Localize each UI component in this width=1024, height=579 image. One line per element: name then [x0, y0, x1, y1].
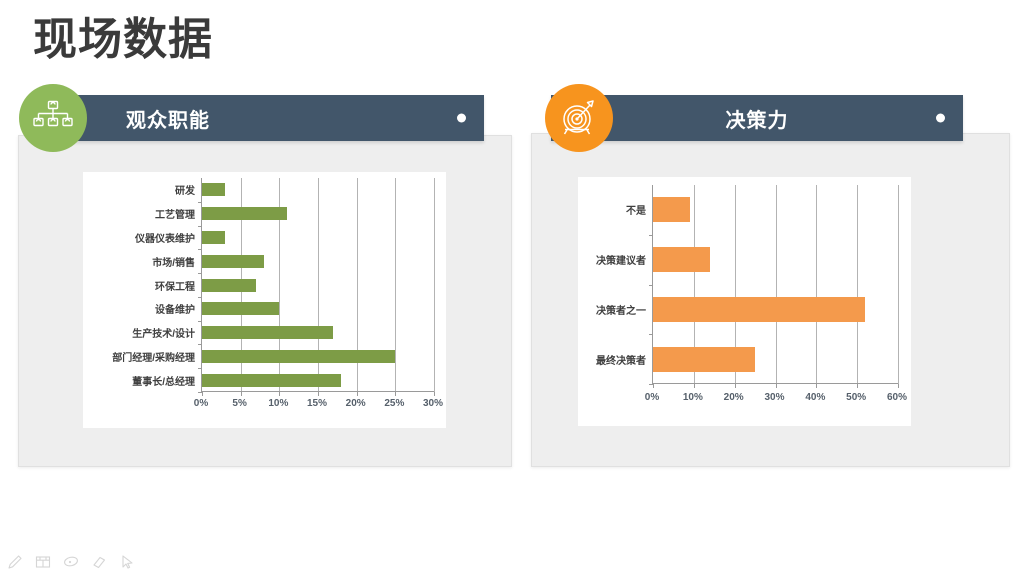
- annotation-toolbar[interactable]: [6, 553, 136, 571]
- bar-row: [202, 368, 434, 392]
- bar: [653, 297, 865, 322]
- y-axis-tick: [649, 285, 653, 286]
- bar-chart-audience-function: 研发工艺管理仪器仪表维护市场/销售环保工程设备维护生产技术/设计部门经理/采购经…: [83, 172, 446, 428]
- category-label: 环保工程: [83, 273, 201, 297]
- plot-area: [652, 177, 911, 426]
- x-axis-ticks: [202, 392, 434, 396]
- category-label: 不是: [578, 185, 652, 235]
- category-label: 研发: [83, 178, 201, 202]
- x-axis-tick-label: 20%: [346, 398, 366, 409]
- status-dot-icon: [457, 114, 466, 123]
- y-axis-category-labels: 不是决策建议者决策者之一最终决策者: [578, 177, 652, 426]
- bar-series: [653, 185, 898, 384]
- y-axis-tick: [198, 273, 202, 274]
- bar: [202, 255, 264, 268]
- x-axis-tick: [434, 392, 435, 396]
- y-axis-tick: [649, 235, 653, 236]
- gridline: [898, 185, 899, 384]
- x-axis-tick-label: 15%: [307, 398, 327, 409]
- x-axis-tick: [857, 384, 858, 388]
- x-axis-tick: [653, 384, 654, 388]
- bar-row: [653, 235, 898, 285]
- y-axis-tick: [198, 344, 202, 345]
- category-label: 决策者之一: [578, 285, 652, 335]
- org-chart-icon: [19, 84, 87, 152]
- y-axis-tick: [198, 249, 202, 250]
- x-axis-tick-label: 50%: [846, 392, 866, 403]
- y-axis-category-labels: 研发工艺管理仪器仪表维护市场/销售环保工程设备维护生产技术/设计部门经理/采购经…: [83, 172, 201, 428]
- y-axis-tick: [198, 297, 202, 298]
- x-axis-tick: [279, 392, 280, 396]
- category-label: 决策建议者: [578, 235, 652, 285]
- bar: [202, 374, 341, 387]
- x-axis-tick-label: 25%: [384, 398, 404, 409]
- bar-row: [653, 334, 898, 384]
- category-label: 生产技术/设计: [83, 321, 201, 345]
- bar-row: [202, 321, 434, 345]
- x-axis-tick: [816, 384, 817, 388]
- y-axis-tick: [198, 368, 202, 369]
- y-axis-ticks: [649, 185, 653, 384]
- y-axis-tick: [649, 334, 653, 335]
- bar-row: [202, 178, 434, 202]
- bar: [202, 183, 225, 196]
- plot-area: [201, 172, 446, 428]
- x-axis-tick-label: 20%: [724, 392, 744, 403]
- bar: [202, 207, 287, 220]
- x-axis-tick-label: 10%: [683, 392, 703, 403]
- x-axis-tick: [898, 384, 899, 388]
- cursor-icon[interactable]: [118, 553, 136, 571]
- bar-row: [202, 226, 434, 250]
- bar-chart-decision-power: 不是决策建议者决策者之一最终决策者 0%10%20%30%40%50%60%: [578, 177, 911, 426]
- bar: [202, 279, 256, 292]
- bar: [653, 197, 690, 222]
- category-label: 最终决策者: [578, 334, 652, 384]
- category-label: 工艺管理: [83, 202, 201, 226]
- chart-card-audience-function: 研发工艺管理仪器仪表维护市场/销售环保工程设备维护生产技术/设计部门经理/采购经…: [83, 172, 446, 428]
- x-axis-tick: [202, 392, 203, 396]
- bar: [653, 347, 755, 372]
- bar-series: [202, 178, 434, 392]
- eraser-icon[interactable]: [90, 553, 108, 571]
- x-axis-tick-label: 40%: [805, 392, 825, 403]
- bar-row: [202, 344, 434, 368]
- x-axis-tick-label: 0%: [645, 392, 659, 403]
- bar-row: [202, 249, 434, 273]
- bar: [202, 326, 333, 339]
- x-axis-tick-label: 30%: [423, 398, 443, 409]
- x-axis-tick: [318, 392, 319, 396]
- x-axis-ticks: [653, 384, 898, 388]
- y-axis-tick: [198, 321, 202, 322]
- target-dartboard-icon: [545, 84, 613, 152]
- x-axis-tick: [694, 384, 695, 388]
- bar: [653, 247, 710, 272]
- bar-row: [653, 285, 898, 335]
- x-axis-tick-label: 0%: [194, 398, 208, 409]
- y-axis-ticks: [198, 178, 202, 392]
- x-axis-tick: [357, 392, 358, 396]
- screen-grid-icon[interactable]: [34, 553, 52, 571]
- bar-row: [202, 202, 434, 226]
- x-axis-tick-label: 10%: [268, 398, 288, 409]
- category-label: 部门经理/采购经理: [83, 344, 201, 368]
- x-axis-tick-labels: 0%10%20%30%40%50%60%: [652, 392, 897, 412]
- chart-card-decision-power: 不是决策建议者决策者之一最终决策者 0%10%20%30%40%50%60%: [578, 177, 911, 426]
- slide-canvas: 现场数据 观众职能 研发工艺管理仪器仪表维护市场/销售环保工程设: [0, 0, 1024, 579]
- x-axis-tick: [241, 392, 242, 396]
- bar-row: [653, 185, 898, 235]
- y-axis-tick: [198, 202, 202, 203]
- bar: [202, 302, 279, 315]
- gridline: [434, 178, 435, 392]
- header-title-audience-function: 观众职能: [126, 104, 210, 133]
- category-label: 仪器仪表维护: [83, 226, 201, 250]
- bar-row: [202, 273, 434, 297]
- lasso-icon[interactable]: [62, 553, 80, 571]
- x-axis-tick-label: 60%: [887, 392, 907, 403]
- x-axis-tick-label: 5%: [232, 398, 246, 409]
- category-label: 设备维护: [83, 297, 201, 321]
- bar: [202, 350, 395, 363]
- x-axis-tick-label: 30%: [764, 392, 784, 403]
- bar-row: [202, 297, 434, 321]
- y-axis-tick: [198, 226, 202, 227]
- x-axis-tick: [735, 384, 736, 388]
- header-bar-audience-function[interactable]: 观众职能: [40, 95, 484, 141]
- pen-icon[interactable]: [6, 553, 24, 571]
- category-label: 董事长/总经理: [83, 368, 201, 392]
- page-title: 现场数据: [33, 12, 213, 68]
- x-axis-tick-labels: 0%5%10%15%20%25%30%: [201, 398, 433, 418]
- category-label: 市场/销售: [83, 249, 201, 273]
- x-axis-tick: [395, 392, 396, 396]
- bar: [202, 231, 225, 244]
- status-dot-icon: [936, 114, 945, 123]
- x-axis-tick: [776, 384, 777, 388]
